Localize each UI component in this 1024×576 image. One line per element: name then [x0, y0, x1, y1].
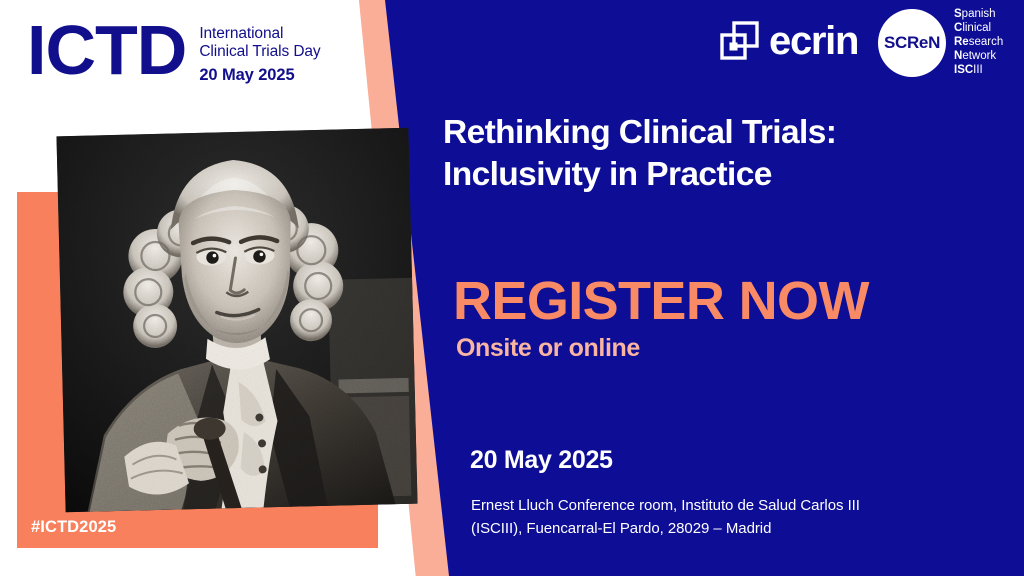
scren-acronym: SCReN: [884, 33, 940, 53]
venue-line1: Ernest Lluch Conference room, Instituto …: [471, 494, 951, 517]
scren-line-spanish: Spanish: [954, 8, 1003, 22]
ictd-logo: ICTD International Clinical Trials Day 2…: [27, 18, 321, 85]
scren-expansion: Spanish Clinical Research Network ISCIII: [954, 8, 1003, 78]
scren-circle-badge: SCReN: [878, 9, 946, 77]
overlapping-squares-icon: [718, 20, 760, 62]
ictd-subtitle-line1: International: [199, 25, 320, 43]
scren-logo: SCReN Spanish Clinical Research Network …: [878, 8, 1003, 78]
ictd-logo-date: 20 May 2025: [199, 66, 320, 85]
event-hashtag: #ICTD2025: [31, 518, 116, 537]
scren-line-research: Research: [954, 36, 1003, 50]
scren-line-network: Network: [954, 50, 1003, 64]
event-headline: Rethinking Clinical Trials: Inclusivity …: [443, 112, 913, 195]
ictd-event-poster: #ICTD2025: [0, 0, 1024, 576]
portrait-engraving-icon: [56, 128, 417, 512]
ictd-subtitle-line2: Clinical Trials Day: [199, 43, 320, 61]
ictd-acronym: ICTD: [27, 18, 186, 82]
event-date: 20 May 2025: [470, 448, 613, 473]
register-now-cta[interactable]: REGISTER NOW: [453, 274, 869, 328]
register-mode-note: Onsite or online: [456, 336, 640, 361]
portrait-image: [56, 128, 417, 512]
scren-line-isciii: ISCIII: [954, 64, 1003, 78]
ecrin-logo: ecrin: [718, 20, 858, 62]
headline-line2: Inclusivity in Practice: [443, 154, 913, 196]
headline-line1: Rethinking Clinical Trials:: [443, 112, 913, 154]
ecrin-wordmark: ecrin: [769, 21, 858, 61]
ictd-logo-subtitle: International Clinical Trials Day 20 May…: [199, 25, 320, 85]
venue-line2: (ISCIII), Fuencarral-El Pardo, 28029 – M…: [471, 517, 951, 540]
scren-line-clinical: Clinical: [954, 22, 1003, 36]
event-venue: Ernest Lluch Conference room, Instituto …: [471, 494, 951, 541]
